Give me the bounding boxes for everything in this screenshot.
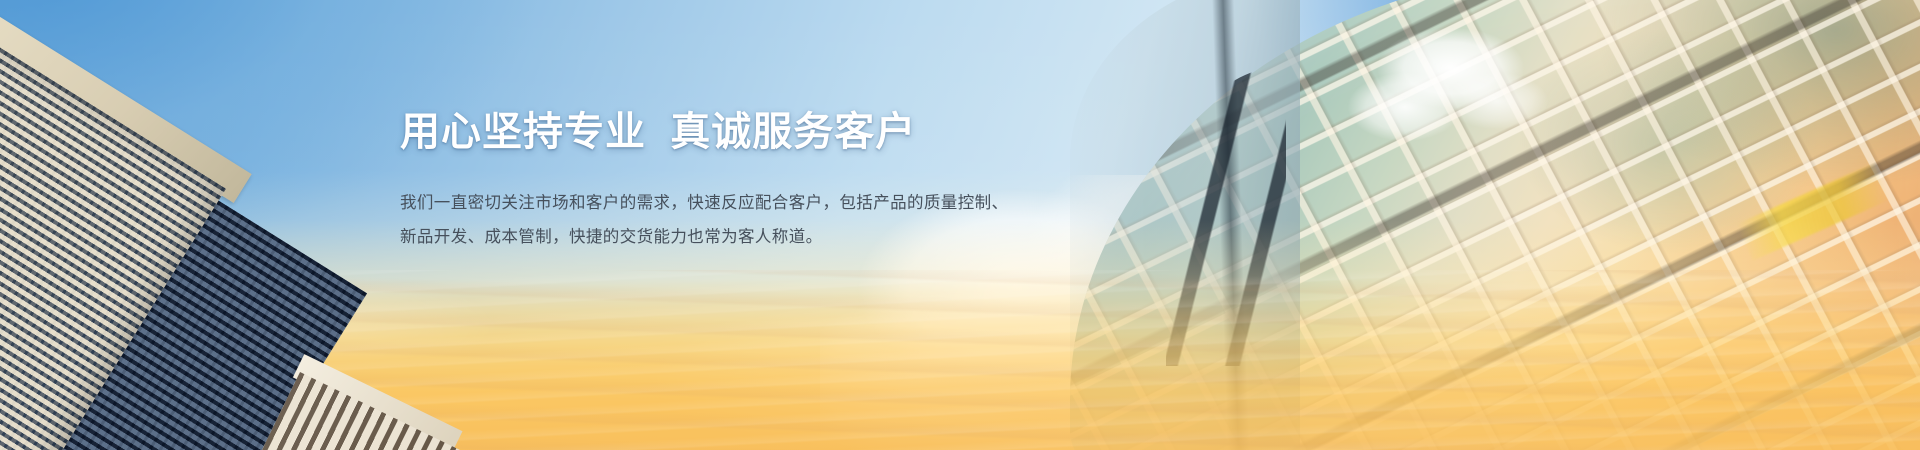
banner-copy: 用心坚持专业 真诚服务客户 我们一直密切关注市场和客户的需求，快速反应配合客户，… <box>400 108 1040 254</box>
banner-headline: 用心坚持专业 真诚服务客户 <box>400 108 1040 157</box>
banner-subtitle-line-2: 新品开发、成本管制，快捷的交货能力也常为客人称道。 <box>400 221 1040 255</box>
banner-subtitle: 我们一直密切关注市场和客户的需求，快速反应配合客户，包括产品的质量控制、 新品开… <box>400 187 1040 255</box>
banner-subtitle-line-1: 我们一直密切关注市场和客户的需求，快速反应配合客户，包括产品的质量控制、 <box>400 187 1040 221</box>
cloud-top-right <box>1345 8 1575 158</box>
hero-banner: 用心坚持专业 真诚服务客户 我们一直密切关注市场和客户的需求，快速反应配合客户，… <box>0 0 1920 450</box>
